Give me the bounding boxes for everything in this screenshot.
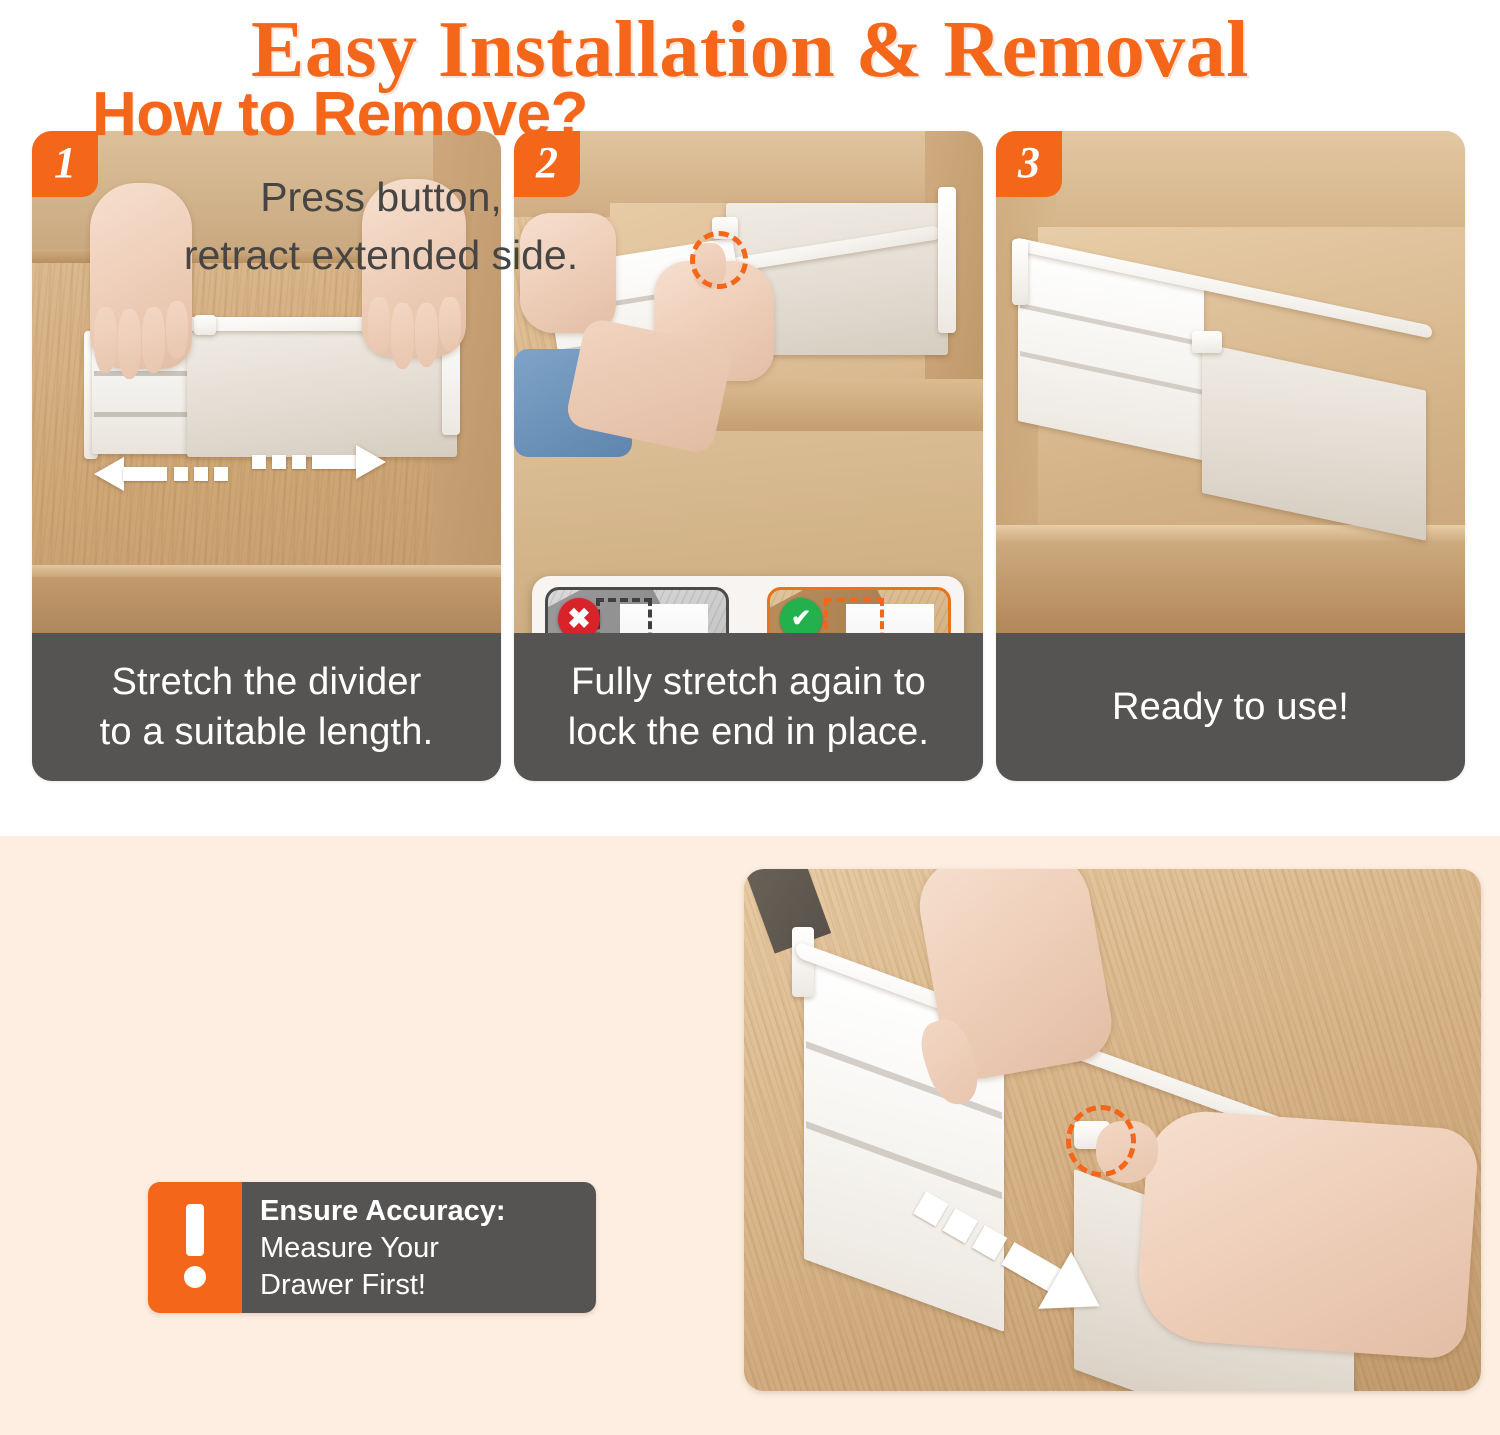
divider-track-groove-2 (94, 412, 200, 417)
step-caption-1: Stretch the divider to a suitable length… (32, 633, 501, 781)
left-hand-finger-3 (142, 307, 165, 373)
accuracy-warning-line-1: Ensure Accuracy: (260, 1193, 596, 1230)
step-caption-2: Fully stretch again to lock the end in p… (514, 633, 983, 781)
left-hand-finger-4 (166, 301, 188, 359)
drawer-front-wall (996, 531, 1465, 641)
step-caption-2-line-1: Fully stretch again to (571, 657, 926, 707)
accuracy-warning-box: Ensure Accuracy: Measure Your Drawer Fir… (148, 1182, 596, 1313)
arrow-dash-left-3 (214, 467, 228, 481)
divider-lock-tab (194, 315, 216, 335)
step-caption-1-line-1: Stretch the divider (111, 657, 421, 707)
divider-left-endcap (1012, 239, 1028, 305)
step-caption-3: Ready to use! (996, 633, 1465, 781)
divider-track-groove-1 (94, 371, 200, 376)
right-hand-finger-1 (368, 297, 390, 355)
accuracy-warning-line-3: Drawer First! (260, 1267, 596, 1304)
right-hand-finger-2 (391, 303, 414, 369)
removal-body-line-1: Press button, (86, 168, 676, 226)
exclamation-bar (186, 1204, 204, 1256)
exclamation-dot (184, 1266, 206, 1288)
arrow-head-left (94, 457, 124, 491)
lock-highlight-circle (690, 231, 748, 289)
drawer-front-lip (32, 565, 501, 577)
arrow-dash-right-3 (292, 455, 306, 469)
accuracy-warning-line-2: Measure Your (260, 1230, 596, 1267)
drawer-front-wall (32, 569, 501, 641)
removal-body-text: Press button, retract extended side. (86, 168, 676, 284)
step-badge-1: 1 (32, 131, 98, 197)
step-caption-3-line-1: Ready to use! (1112, 682, 1349, 732)
lower-hand (1134, 1108, 1479, 1360)
arrow-dash-left-1 (174, 467, 188, 481)
divider-right-rail (938, 187, 956, 333)
arrow-shaft-right (312, 455, 358, 469)
removal-photo (744, 869, 1481, 1391)
stretch-arrow-left (94, 451, 264, 495)
arrow-dash-right-1 (252, 455, 266, 469)
removal-body-line-2: retract extended side. (86, 226, 676, 284)
step-card-3: 3 Ready to use! (996, 131, 1465, 781)
step-3-photo (996, 131, 1465, 641)
step-caption-1-line-2: to a suitable length. (100, 707, 434, 757)
arrow-head-right (356, 445, 386, 479)
divider-lock-tab (1192, 331, 1222, 353)
stretch-arrow-right (252, 439, 432, 483)
left-hand-finger-1 (94, 307, 117, 373)
release-button-highlight-circle (1066, 1105, 1136, 1177)
step-badge-3: 3 (996, 131, 1062, 197)
exclamation-icon (148, 1182, 242, 1313)
arrow-dash-right-2 (272, 455, 286, 469)
right-hand-finger-3 (415, 303, 438, 367)
step-badge-2: 2 (514, 131, 580, 197)
step-caption-2-line-2: lock the end in place. (568, 707, 929, 757)
arrow-dash-left-2 (194, 467, 208, 481)
right-hand-finger-4 (439, 297, 461, 351)
accuracy-warning-text: Ensure Accuracy: Measure Your Drawer Fir… (242, 1182, 596, 1313)
arrow-shaft-left (123, 467, 167, 481)
left-hand-finger-2 (118, 309, 141, 379)
